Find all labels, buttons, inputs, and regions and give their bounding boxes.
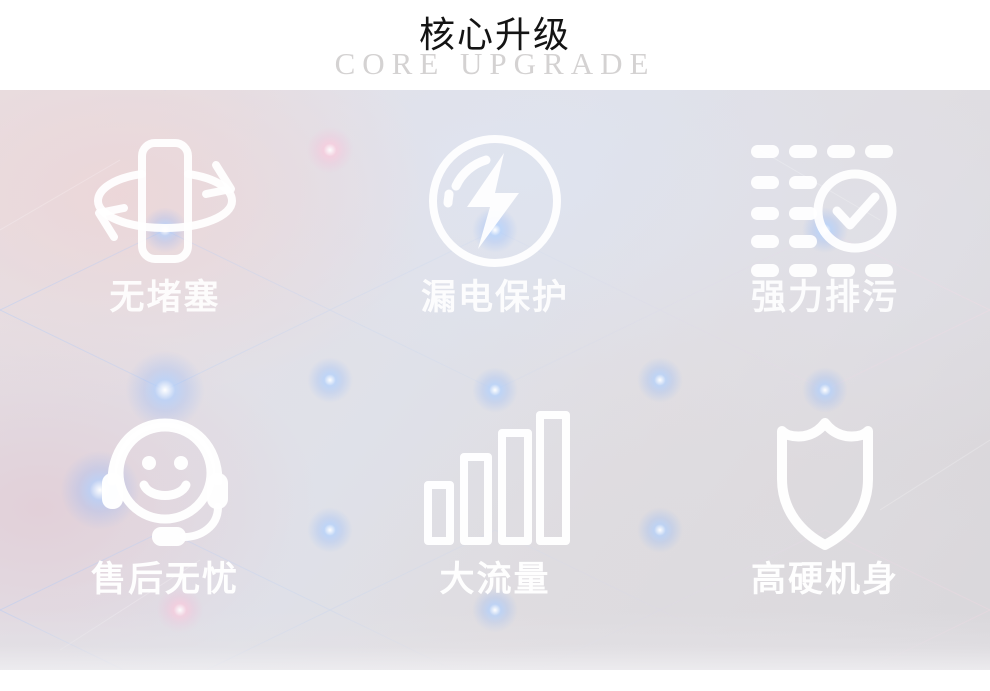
feature-item-strong-drain[interactable]: 强力排污 xyxy=(660,90,990,380)
header-title-block: CORE UPGRADE 核心升级 xyxy=(0,0,990,90)
feature-label: 售后无忧 xyxy=(91,561,239,600)
signal-bars-icon xyxy=(415,410,575,555)
feature-label: 强力排污 xyxy=(751,279,899,318)
checklist-check-icon xyxy=(745,128,905,273)
feature-label: 大流量 xyxy=(439,561,550,600)
feature-item-high-flow[interactable]: 大流量 xyxy=(330,380,660,670)
headset-smile-icon xyxy=(85,410,245,555)
feature-item-leak-protect[interactable]: 漏电保护 xyxy=(330,90,660,380)
feature-item-after-sales[interactable]: 售后无忧 xyxy=(0,380,330,670)
feature-grid: 无堵塞 漏电保护 xyxy=(0,90,990,670)
page-header: CORE UPGRADE 核心升级 xyxy=(0,0,990,90)
lightning-circle-icon xyxy=(415,128,575,273)
feature-item-no-clog[interactable]: 无堵塞 xyxy=(0,90,330,380)
page-bottom-strip xyxy=(0,670,990,691)
feature-label: 无堵塞 xyxy=(109,279,220,318)
feature-label: 漏电保护 xyxy=(421,279,569,318)
feature-item-hard-body[interactable]: 高硬机身 xyxy=(660,380,990,670)
feature-panel: 无堵塞 漏电保护 xyxy=(0,90,990,670)
rotate-360-icon xyxy=(85,128,245,273)
shield-icon xyxy=(745,410,905,555)
page-title: 核心升级 xyxy=(0,17,990,53)
feature-label: 高硬机身 xyxy=(751,561,899,600)
page-root: CORE UPGRADE 核心升级 xyxy=(0,0,990,691)
